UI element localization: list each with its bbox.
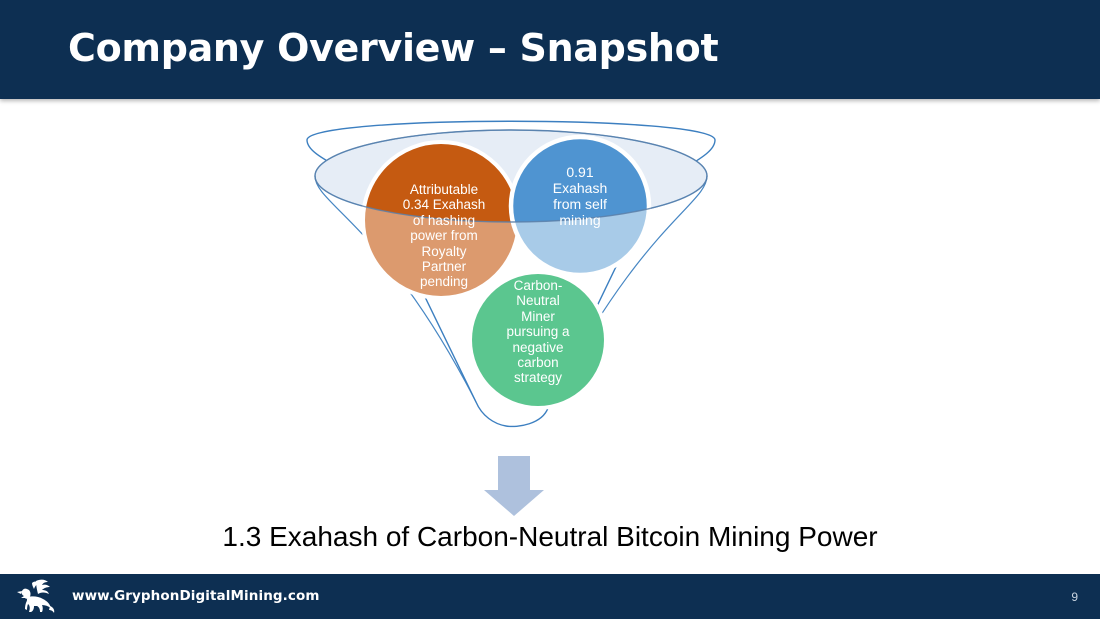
page-title: Company Overview – Snapshot (68, 26, 718, 70)
summary-caption: 1.3 Exahash of Carbon-Neutral Bitcoin Mi… (0, 521, 1100, 553)
gryphon-logo (12, 577, 60, 617)
slide-footer: www.GryphonDigitalMining.com 9 (0, 574, 1100, 619)
down-arrow-icon (484, 456, 544, 516)
funnel-diagram (290, 108, 760, 520)
slide: Company Overview – Snapshot (0, 0, 1100, 619)
bubble-carbon-neutral (472, 274, 604, 406)
page-number: 9 (1071, 590, 1078, 604)
footer-website-url[interactable]: www.GryphonDigitalMining.com (72, 588, 320, 604)
slide-header: Company Overview – Snapshot (0, 0, 1100, 99)
